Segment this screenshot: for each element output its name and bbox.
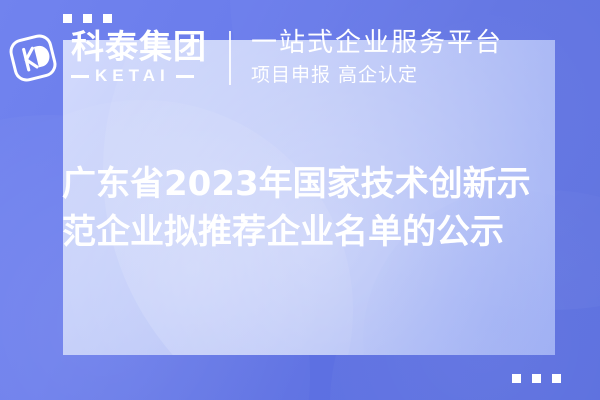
tagline-primary: 一站式企业服务平台 xyxy=(251,27,503,60)
tagline-secondary: 项目申报 高企认定 xyxy=(251,63,503,89)
announcement-banner: 科泰集团 KETAI 一站式企业服务平台 项目申报 高企认定 广东省2023年国… xyxy=(0,0,600,400)
announcement-headline: 广东省2023年国家技术创新示范企业拟推荐企业名单的公示 xyxy=(62,160,562,256)
banner-header: 科泰集团 KETAI 一站式企业服务平台 项目申报 高企认定 xyxy=(0,8,600,108)
logo-rule-left-icon xyxy=(71,75,89,78)
square-dot-icon xyxy=(532,374,541,383)
square-dot-icon xyxy=(512,374,521,383)
brand-name-cn: 科泰集团 xyxy=(71,30,207,64)
logo-rule-right-icon xyxy=(176,75,194,78)
brand-logo-text: 科泰集团 KETAI xyxy=(71,30,207,87)
header-divider xyxy=(229,31,231,85)
square-dot-icon xyxy=(552,374,561,383)
brand-name-en: KETAI xyxy=(95,66,170,86)
brand-tagline: 一站式企业服务平台 项目申报 高企认定 xyxy=(251,27,503,89)
brand-logo: 科泰集团 KETAI xyxy=(5,30,207,87)
ketai-kd-monogram-icon xyxy=(5,30,61,86)
brand-name-en-row: KETAI xyxy=(71,66,207,86)
decorative-dots-bottom-right xyxy=(512,374,561,383)
